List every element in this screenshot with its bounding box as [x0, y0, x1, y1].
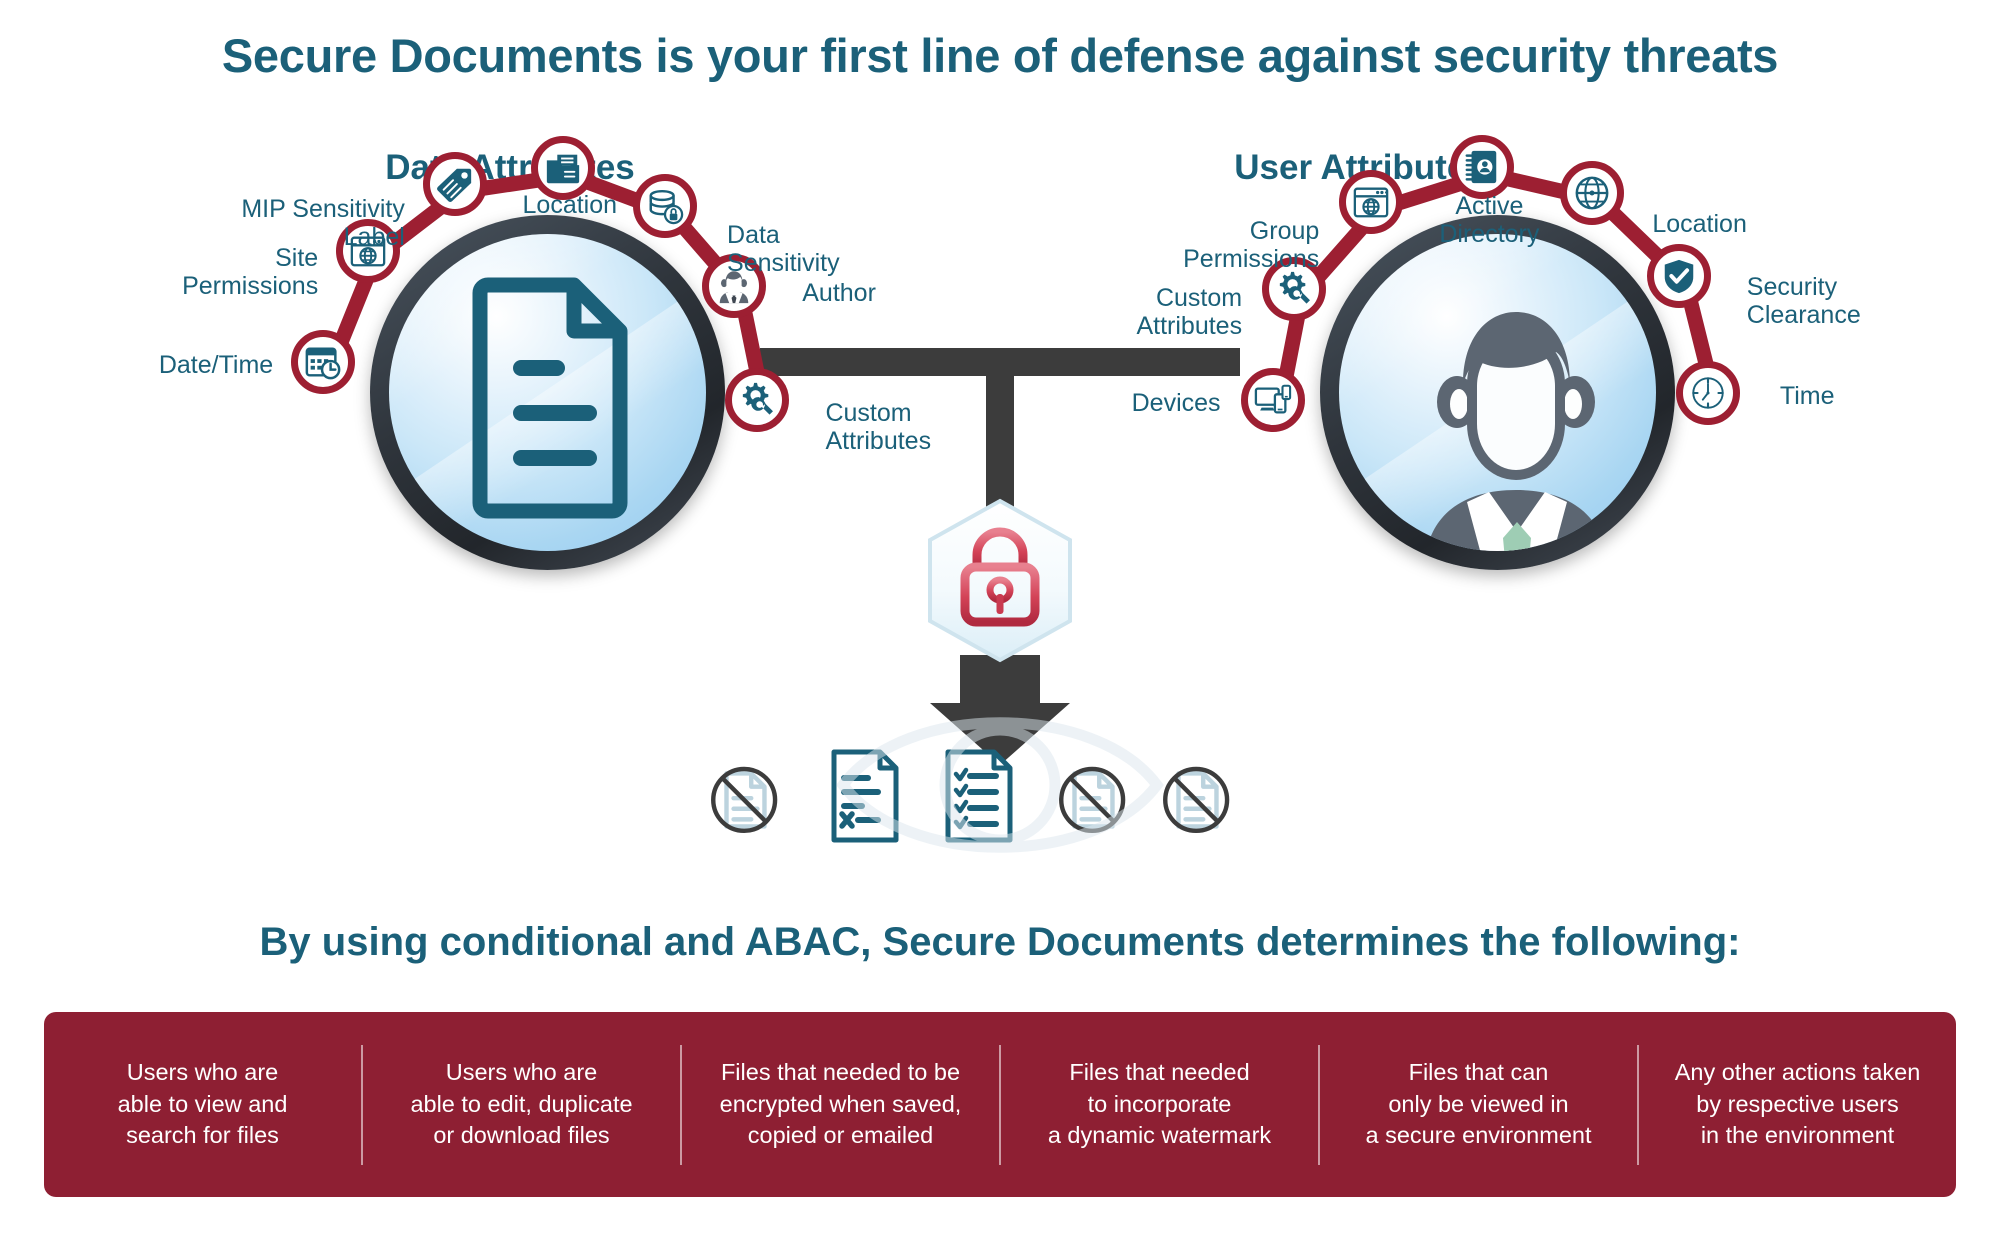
attribute-label: Devices	[1132, 389, 1221, 417]
attribute-node-gear-wrench[interactable]	[725, 368, 789, 432]
clock-icon	[1689, 374, 1727, 412]
attribute-label: Site Permissions	[182, 244, 318, 300]
attribute-node-clock[interactable]	[1676, 361, 1740, 425]
banner-item: Files that needed to be encrypted when s…	[682, 1045, 1001, 1165]
lens-glass	[1339, 234, 1656, 551]
folder-icon	[544, 149, 582, 187]
user-avatar-icon	[1339, 234, 1656, 551]
banner-item: Users who are able to edit, duplicate or…	[363, 1045, 682, 1165]
outcome-blocked-document-icon	[1152, 754, 1240, 847]
infographic-canvas: Secure Documents is your first line of d…	[0, 0, 2000, 1250]
eye-watermark-icon	[835, 690, 1165, 875]
banner-item: Files that needed to incorporate a dynam…	[1001, 1045, 1320, 1165]
section-subtitle: By using conditional and ABAC, Secure Do…	[0, 920, 2000, 965]
document-icon	[370, 215, 725, 570]
attribute-label: Location	[450, 191, 690, 219]
padlock-hexagon-icon	[925, 498, 1075, 663]
attribute-label: Active Directory	[1369, 192, 1609, 248]
attribute-label: Location	[1652, 210, 1747, 238]
page-title: Secure Documents is your first line of d…	[0, 28, 2000, 83]
attribute-label: Security Clearance	[1747, 273, 1861, 329]
attribute-label: MIP Sensitivity Label	[241, 195, 404, 251]
gear-wrench-icon	[738, 381, 776, 419]
banner-item: Any other actions taken by respective us…	[1639, 1045, 1956, 1165]
attribute-node-calendar-clock[interactable]	[291, 330, 355, 394]
attribute-label: Group Permissions	[1183, 217, 1319, 273]
attribute-label: Custom Attributes	[825, 399, 931, 455]
outcomes-banner: Users who are able to view and search fo…	[44, 1012, 1956, 1197]
user-attributes-lens	[1320, 215, 1675, 570]
attribute-node-address-book[interactable]	[1450, 135, 1514, 199]
calendar-clock-icon	[304, 343, 342, 381]
address-book-icon	[1463, 148, 1501, 186]
attribute-label: Author	[802, 279, 876, 307]
attribute-label: Custom Attributes	[1136, 284, 1242, 340]
data-attributes-lens	[370, 215, 725, 570]
outcome-blocked-document-icon	[700, 754, 788, 847]
banner-item: Files that can only be viewed in a secur…	[1320, 1045, 1639, 1165]
gear-wrench-icon	[1275, 270, 1313, 308]
banner-item: Users who are able to view and search fo…	[44, 1045, 363, 1165]
devices-icon	[1254, 381, 1292, 419]
attribute-label: Time	[1780, 382, 1835, 410]
attribute-node-shield-check[interactable]	[1647, 244, 1711, 308]
shield-check-icon	[1660, 257, 1698, 295]
attribute-node-devices[interactable]	[1241, 368, 1305, 432]
attribute-label: Data Sensitivity	[727, 221, 840, 277]
attribute-label: Date/Time	[159, 351, 273, 379]
